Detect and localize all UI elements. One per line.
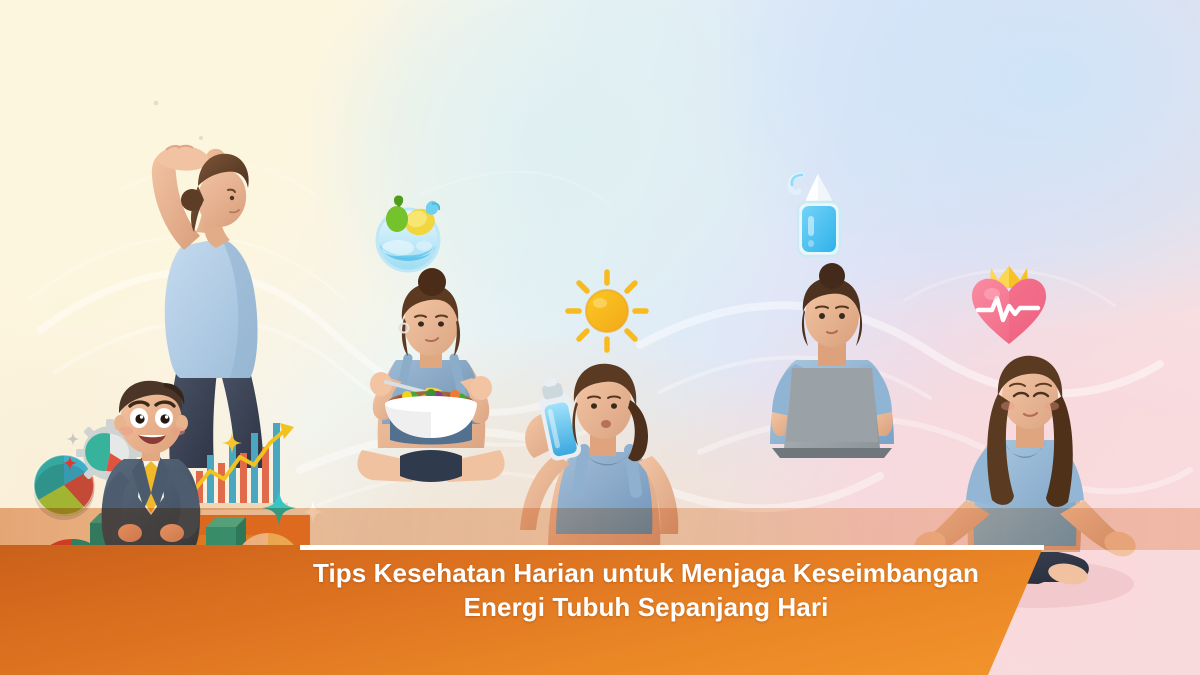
sparkle-grey-icon bbox=[66, 432, 80, 446]
banner-overlay-band bbox=[0, 508, 1200, 550]
banner-divider-rule bbox=[300, 545, 1044, 550]
salad-eating-woman bbox=[348, 272, 514, 502]
banner-title: Tips Kesehatan Harian untuk Menjaga Kese… bbox=[296, 556, 996, 625]
banner-title-line-1: Tips Kesehatan Harian untuk Menjaga Kese… bbox=[296, 556, 996, 590]
sun-icon bbox=[562, 266, 652, 356]
sparkle-white-top-icon bbox=[150, 96, 162, 108]
laptop-working-woman bbox=[742, 272, 922, 458]
sparkle-dot-icon bbox=[196, 130, 206, 140]
lemon-bowl-icon bbox=[362, 190, 454, 278]
heart-crown-icon bbox=[964, 262, 1054, 352]
sparkle-gold-icon bbox=[222, 432, 242, 454]
poster-canvas: Tips Kesehatan Harian untuk Menjaga Kese… bbox=[0, 0, 1200, 675]
water-glass-icon bbox=[784, 170, 854, 260]
sparkle-red-icon bbox=[63, 455, 77, 471]
banner-title-line-2: Energi Tubuh Sepanjang Hari bbox=[296, 590, 996, 624]
